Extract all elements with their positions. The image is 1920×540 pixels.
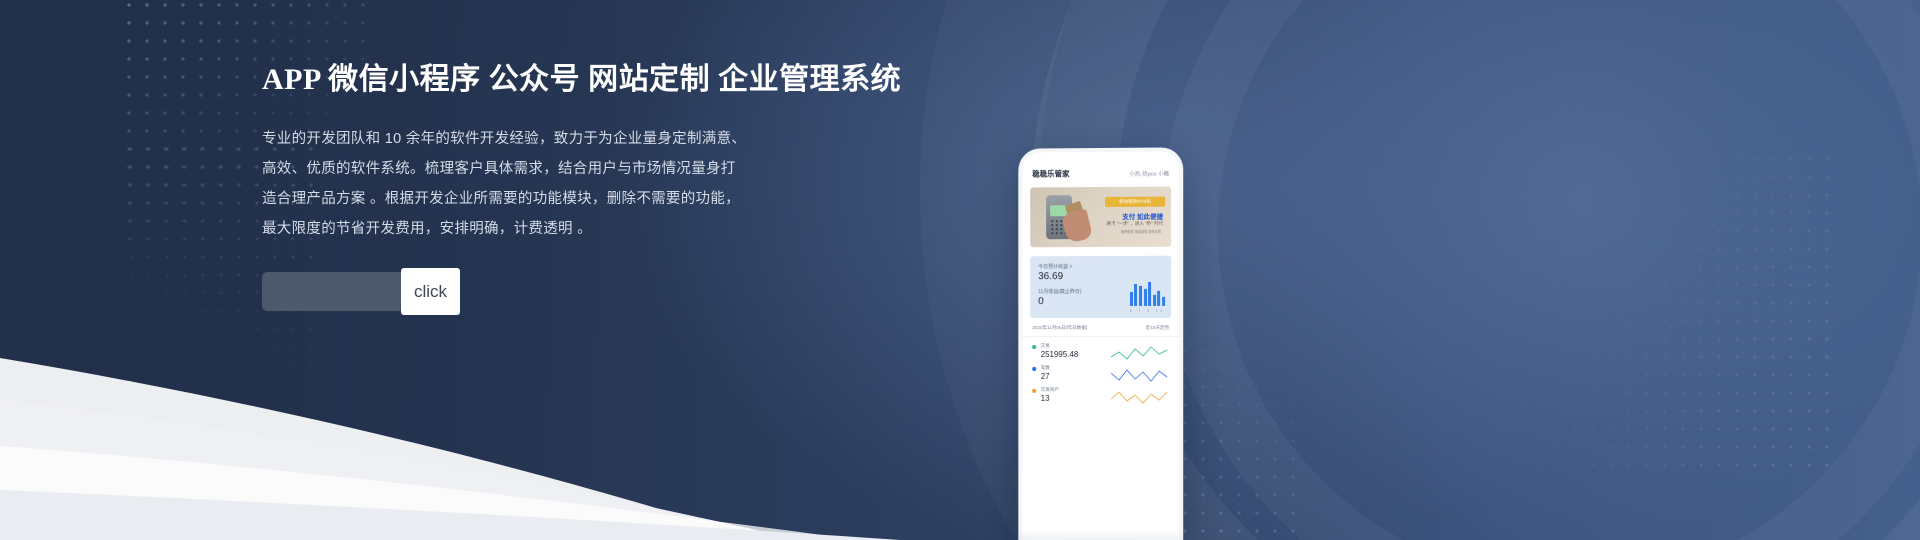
- promo-banner[interactable]: 移动收款POS机 支付 如此便捷 刷卡 "一步" ，进入 "秒" 时代 免押免费…: [1030, 187, 1171, 248]
- earnings-card[interactable]: 今日预计收益 > 36.69 11月收益(截止昨日) 0 5 7 9 11: [1030, 256, 1171, 318]
- phone-fade: [1018, 529, 1183, 540]
- hero-banner: APP 微信小程序 公众号 网站定制 企业管理系统 专业的开发团队和 10 余年…: [0, 0, 1920, 540]
- cta-input-bar[interactable]: click: [262, 272, 460, 311]
- trend-dot-icon: [1032, 389, 1035, 392]
- trend-label: 交易商户: [1041, 387, 1059, 393]
- click-button[interactable]: click: [401, 268, 460, 315]
- earnings-bar-chart: [1130, 282, 1165, 306]
- promo-badge: 移动收款POS机: [1105, 197, 1165, 207]
- today-earnings-label: 今日预计收益 >: [1038, 263, 1163, 270]
- earnings-bar: [1139, 286, 1142, 306]
- promo-headline: 支付 如此便捷: [1122, 211, 1163, 221]
- promo-tagline: 免押免费 现金返现 费率优惠: [1121, 229, 1161, 234]
- data-meta-row: 2020年11月05日(昨日数据) 近15天走势: [1022, 318, 1179, 337]
- trend-sparkline: [1111, 343, 1169, 363]
- earnings-bar: [1153, 295, 1156, 306]
- earnings-bar: [1157, 291, 1160, 306]
- trend-list: 交易251995.48笔数27交易商户13: [1022, 337, 1179, 403]
- earnings-bar: [1144, 289, 1147, 306]
- trend-row: 交易商户13: [1032, 387, 1169, 403]
- trend-label: 交易: [1041, 343, 1079, 349]
- earnings-bar-axis: 5 7 9 11: [1130, 309, 1165, 313]
- earnings-bar: [1148, 282, 1151, 306]
- app-title: 稳稳乐管家: [1032, 168, 1069, 179]
- phone-screen: 稳稳乐管家 小热-热pos 小舞 移动收款POS机 支付 如此便捷 刷卡 "一步…: [1022, 151, 1179, 540]
- trend-dot-icon: [1032, 367, 1035, 370]
- today-earnings-value: 36.69: [1038, 271, 1163, 282]
- trend-link[interactable]: 近15天走势: [1146, 325, 1170, 331]
- app-user-label: 小热-热pos 小舞: [1129, 170, 1169, 178]
- page-title: APP 微信小程序 公众号 网站定制 企业管理系统: [262, 60, 902, 100]
- trend-row: 笔数27: [1032, 365, 1169, 381]
- trend-value: 251995.48: [1041, 350, 1079, 359]
- trend-sparkline: [1111, 387, 1169, 407]
- app-header: 稳稳乐管家 小热-热pos 小舞: [1022, 151, 1179, 187]
- hero-copy: APP 微信小程序 公众号 网站定制 企业管理系统 专业的开发团队和 10 余年…: [262, 60, 902, 311]
- description-line-4: 最大限度的节省开发费用，安排明确，计费透明 。: [262, 214, 902, 244]
- earnings-bar: [1162, 297, 1165, 306]
- description-line-2: 高效、优质的软件系统。梳理客户具体需求，结合用户与市场情况量身打: [262, 154, 902, 184]
- phone-mockup: 稳稳乐管家 小热-热pos 小舞 移动收款POS机 支付 如此便捷 刷卡 "一步…: [1018, 147, 1183, 540]
- trend-value: 27: [1041, 372, 1050, 381]
- trend-row: 交易251995.48: [1032, 343, 1169, 359]
- hero-description: 专业的开发团队和 10 余年的软件开发经验，致力于为企业量身定制满意、 高效、优…: [262, 124, 902, 244]
- trend-dot-icon: [1032, 345, 1035, 348]
- description-line-1: 专业的开发团队和 10 余年的软件开发经验，致力于为企业量身定制满意、: [262, 124, 902, 154]
- trend-sparkline: [1111, 365, 1169, 385]
- promo-subline: 刷卡 "一步" ，进入 "秒" 时代: [1107, 221, 1164, 227]
- description-line-3: 造合理产品方案 。根据开发企业所需要的功能模块，删除不需要的功能，: [262, 184, 902, 214]
- earnings-bar: [1134, 284, 1137, 306]
- trend-label: 笔数: [1041, 365, 1050, 371]
- data-date: 2020年11月05日(昨日数据): [1032, 325, 1087, 331]
- earnings-bar: [1130, 292, 1133, 306]
- trend-value: 13: [1041, 394, 1059, 403]
